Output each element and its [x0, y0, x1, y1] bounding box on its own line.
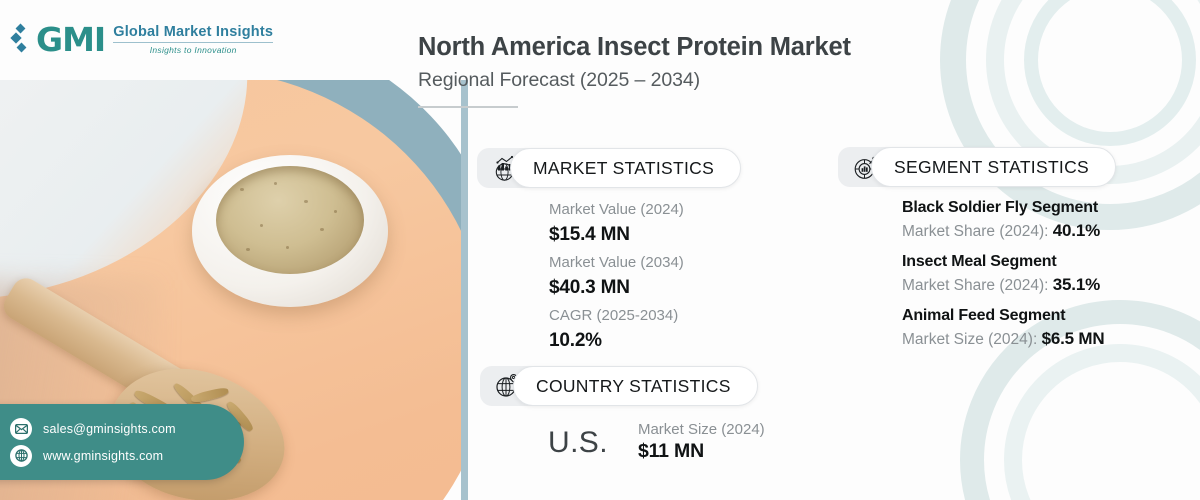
contact-website-row[interactable]: www.gminsights.com: [10, 445, 244, 467]
stat-value: $15.4 MN: [549, 222, 741, 248]
logo-company-name: Global Market Insights: [113, 24, 273, 40]
contact-website-text: www.gminsights.com: [43, 449, 163, 463]
gmi-logo[interactable]: GMI Global Market Insights Insights to I…: [12, 22, 273, 56]
insect-protein-powder: [216, 166, 364, 274]
contact-email-text: sales@gminsights.com: [43, 422, 176, 436]
segment-metric-label: Market Share (2024):: [902, 223, 1048, 240]
market-statistics-header: MARKET STATISTICS: [477, 148, 741, 188]
country-figures: Market Size (2024) $11 MN: [638, 419, 765, 463]
contact-bar: sales@gminsights.com www.gminsights.com: [0, 404, 244, 480]
country-name: U.S.: [548, 419, 608, 458]
market-statistics-body: Market Value (2024) $15.4 MN Market Valu…: [477, 199, 741, 353]
segment-metric-value: 35.1%: [1053, 275, 1100, 294]
page-subtitle: Regional Forecast (2025 – 2034): [418, 69, 851, 92]
country-statistics-heading: COUNTRY STATISTICS: [536, 376, 731, 397]
country-statistics-body: U.S. Market Size (2024) $11 MN: [480, 419, 765, 463]
stat-label: Market Value (2024): [549, 199, 741, 222]
segment-metric-row: Market Share (2024): 35.1%: [902, 273, 1116, 297]
country-metric-label: Market Size (2024): [638, 419, 765, 440]
photo-right-edge: [461, 80, 468, 500]
envelope-icon: [10, 418, 32, 440]
segment-name: Animal Feed Segment: [902, 304, 1116, 327]
globe-icon: [10, 445, 32, 467]
market-statistics-heading: MARKET STATISTICS: [533, 158, 714, 179]
page-title: North America Insect Protein Market: [418, 33, 851, 62]
segment-name: Insect Meal Segment: [902, 250, 1116, 273]
country-metric-value: $11 MN: [638, 440, 765, 463]
segment-statistics-body: Black Soldier Fly Segment Market Share (…: [838, 196, 1116, 351]
segment-statistics-panel: SEGMENT STATISTICS Black Soldier Fly Seg…: [838, 147, 1116, 358]
contact-email-row[interactable]: sales@gminsights.com: [10, 418, 244, 440]
segment-metric-label: Market Share (2024):: [902, 277, 1048, 294]
segment-metric-row: Market Share (2024): 40.1%: [902, 219, 1116, 243]
country-statistics-header: COUNTRY STATISTICS: [480, 366, 765, 406]
stat-label: Market Value (2034): [549, 252, 741, 275]
header-title-block: North America Insect Protein Market Regi…: [418, 33, 851, 108]
stat-label: CAGR (2025-2034): [549, 305, 741, 328]
logo-diamond-icon: [12, 22, 30, 56]
title-underline: [418, 106, 518, 108]
stat-value: 10.2%: [549, 328, 741, 354]
segment-name: Black Soldier Fly Segment: [902, 196, 1116, 219]
segment-metric-value: $6.5 MN: [1042, 329, 1105, 348]
market-statistics-pill: MARKET STATISTICS: [510, 148, 741, 188]
market-statistics-panel: MARKET STATISTICS Market Value (2024) $1…: [477, 148, 741, 358]
stat-value: $40.3 MN: [549, 275, 741, 301]
logo-divider: [113, 42, 273, 43]
segment-statistics-pill: SEGMENT STATISTICS: [871, 147, 1116, 187]
infographic-canvas: sales@gminsights.com www.gminsights.com …: [0, 0, 1200, 500]
country-statistics-panel: COUNTRY STATISTICS U.S. Market Size (202…: [480, 366, 765, 463]
logo-gmi-text: GMI: [36, 23, 105, 56]
country-statistics-pill: COUNTRY STATISTICS: [513, 366, 758, 406]
segment-metric-value: 40.1%: [1053, 221, 1100, 240]
segment-metric-label: Market Size (2024):: [902, 331, 1037, 348]
segment-statistics-header: SEGMENT STATISTICS: [838, 147, 1116, 187]
segment-metric-row: Market Size (2024): $6.5 MN: [902, 327, 1116, 351]
logo-tagline: Insights to Innovation: [113, 45, 273, 55]
segment-statistics-heading: SEGMENT STATISTICS: [894, 157, 1089, 178]
